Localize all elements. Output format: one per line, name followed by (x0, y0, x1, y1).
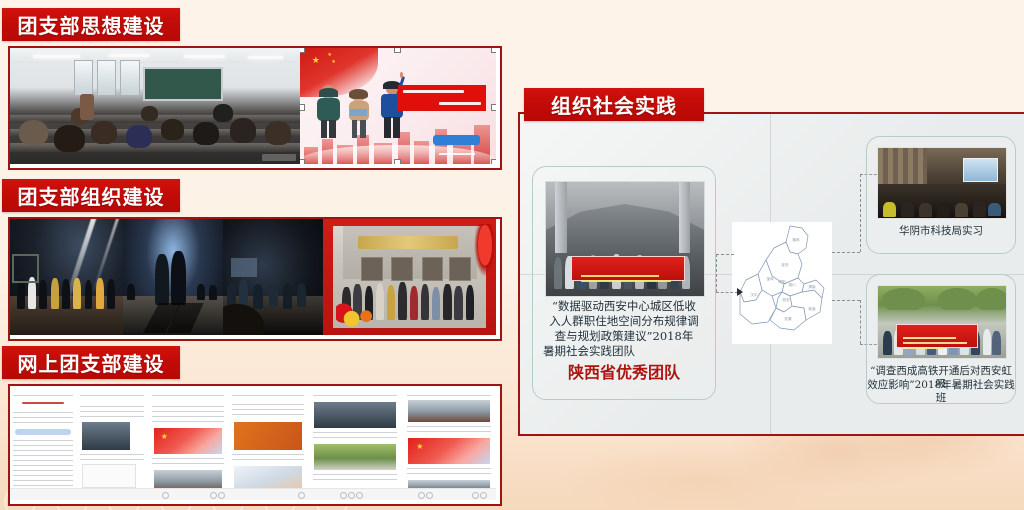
connector-map-to-bottom-right (832, 300, 860, 301)
photo-watermark (262, 154, 296, 161)
night-field-activity-photo-3 (223, 219, 323, 335)
svg-text:铜川: 铜川 (788, 282, 796, 287)
practice-card-main-caption-line-3: 查与规划政策建议”2018年 (533, 329, 715, 343)
svg-text:西安: 西安 (782, 297, 790, 302)
group-photo-red-frame (323, 219, 496, 335)
connector-arrow-map-in (737, 288, 743, 296)
section-banner-social-practice-label: 组织社会实践 (551, 90, 677, 119)
connector-map-to-top-right (832, 252, 860, 253)
svg-text:汉中: 汉中 (750, 292, 758, 297)
svg-text:商洛: 商洛 (808, 306, 816, 311)
classroom-lecture-photo (10, 48, 300, 164)
svg-text:宝鸡: 宝鸡 (766, 276, 774, 281)
online-theme-activity-slide: ★ ★ ★ (300, 48, 496, 164)
photo-frame-online (8, 384, 502, 506)
practice-card-main-caption-line-1: “数据驱动西安中心城区低收 (533, 299, 715, 313)
svg-text:安康: 安康 (784, 316, 792, 321)
practice-card-huayin[interactable]: 华阴市科技局实习 (866, 136, 1016, 254)
section-banner-ideological: 团支部思想建设 (2, 8, 180, 41)
section-banner-online-label: 网上团支部建设 (18, 348, 165, 377)
social-practice-panel: “数据驱动西安中心城区低收 入人群职住地空间分布规律调 查与规划政策建议”201… (518, 112, 1024, 436)
presentation-slide: 团支部思想建设 (0, 0, 1024, 510)
practice-card-main-caption-line-4: 暑期社会实践团队 (533, 344, 715, 358)
students-banner-outdoor-photo (877, 285, 1007, 359)
section-banner-online: 网上团支部建设 (2, 346, 180, 379)
section-banner-organizational-label: 团支部组织建设 (18, 181, 165, 210)
practice-card-main-caption-line-2: 入人群职住地空间分布规律调 (533, 314, 715, 328)
huayin-meeting-room-photo (877, 147, 1007, 219)
night-field-activity-photo-2 (123, 219, 223, 335)
wechat-article-screenshot-collage (10, 386, 496, 500)
svg-text:咸阳: 咸阳 (778, 279, 786, 284)
connector-left-main-to-map (716, 254, 734, 255)
svg-text:延安: 延安 (781, 262, 789, 267)
section-banner-social-practice: 组织社会实践 (524, 88, 704, 121)
section-banner-ideological-label: 团支部思想建设 (18, 10, 165, 39)
practice-card-main-award-label: 陕西省优秀团队 (533, 363, 715, 383)
connector-top-right-vertical (860, 174, 861, 252)
connector-left-lower (716, 292, 738, 293)
night-field-activity-photo-1 (10, 219, 123, 335)
connector-bottom-right-vertical (860, 300, 861, 344)
practice-card-xicheng-caption-line-2: 效应影响”2018年暑期社会实践班 (867, 379, 1015, 405)
photo-frame-ideological: ★ ★ ★ (8, 46, 502, 170)
section-banner-organizational: 团支部组织建设 (2, 179, 180, 212)
practice-team-banner-photo (545, 181, 705, 297)
practice-card-main[interactable]: “数据驱动西安中心城区低收 入人群职住地空间分布规律调 查与规划政策建议”201… (532, 166, 716, 400)
shaanxi-map-svg: 榆林 延安 铜川 渭南 宝鸡 咸阳 西安 商洛 汉中 安康 (732, 222, 832, 344)
shaanxi-province-map: 榆林 延安 铜川 渭南 宝鸡 咸阳 西安 商洛 汉中 安康 (732, 222, 832, 344)
photo-frame-organizational (8, 217, 502, 341)
svg-text:渭南: 渭南 (808, 284, 816, 289)
svg-text:榆林: 榆林 (792, 237, 800, 242)
connector-left-vertical (716, 254, 717, 292)
practice-card-huayin-caption: 华阴市科技局实习 (867, 225, 1015, 238)
practice-card-xicheng-hsr[interactable]: “调查西成高铁开通后对西安虹吸 效应影响”2018年暑期社会实践班 (866, 274, 1016, 404)
